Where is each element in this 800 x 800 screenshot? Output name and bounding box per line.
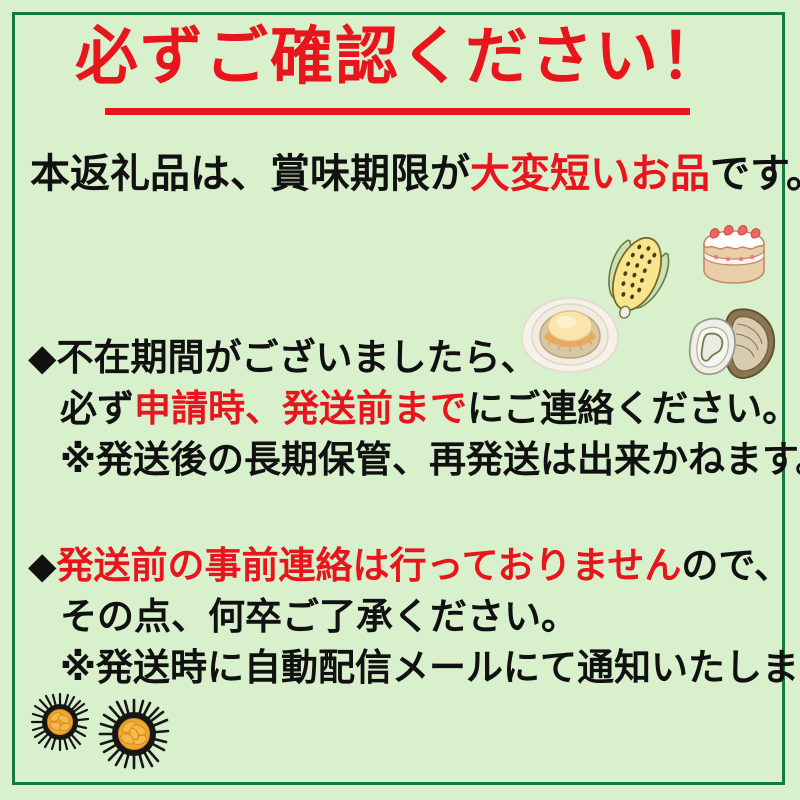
line-segment: ◆不在期間がございましたら、 <box>28 336 537 379</box>
line-segment-highlight: 発送前の事前連絡は行っておりません <box>56 544 681 587</box>
sea-urchin-large-illustration <box>98 698 170 770</box>
bullet-diamond-icon: ◆ <box>28 544 56 587</box>
lead-text-part-1: 本返礼品は、賞味期限が <box>30 151 470 197</box>
corn-illustration <box>596 224 678 324</box>
title-block: 必ずご確認ください！ <box>0 22 800 93</box>
paragraph-line: 必ず申請時、発送前までにご連絡ください。 <box>28 383 800 434</box>
paragraph-line: その点、何卒ご了承ください。 <box>28 591 800 642</box>
paragraph-line: ※発送後の長期保管、再発送は出来かねます。 <box>28 434 800 485</box>
lead-sentence: 本返礼品は、賞味期限が大変短いお品です。 <box>30 150 775 198</box>
paragraph-line: ※発送時に自動配信メールにて通知いたします。 <box>28 642 800 693</box>
paragraph-line: ◆発送前の事前連絡は行っておりませんので、 <box>28 540 800 591</box>
lead-text-part-2: です。 <box>710 151 800 197</box>
paragraph-no-prenotice: ◆発送前の事前連絡は行っておりませんので、 その点、何卒ご了承ください。 ※発送… <box>28 540 800 693</box>
paragraph-absence-period: ◆不在期間がございましたら、 必ず申請時、発送前までにご連絡ください。 ※発送後… <box>28 332 800 485</box>
line-segment: その点、何卒ご了承ください。 <box>60 595 578 638</box>
notice-card: 必ずご確認ください！ 本返礼品は、賞味期限が大変短いお品です。 ◆不在期間がござ… <box>0 0 800 800</box>
paragraph-line: ◆不在期間がございましたら、 <box>28 332 800 383</box>
line-segment: ※発送後の長期保管、再発送は出来かねます。 <box>60 438 800 481</box>
line-segment: ので、 <box>681 544 791 587</box>
title-underline <box>105 108 690 115</box>
line-segment: 必ず <box>60 387 134 430</box>
line-segment: にご連絡ください。 <box>467 387 799 430</box>
page-title: 必ずご確認ください！ <box>0 22 800 93</box>
sea-urchin-small-illustration <box>30 692 90 752</box>
strawberry-cake-illustration <box>694 220 774 288</box>
line-segment: ※発送時に自動配信メールにて通知いたします。 <box>60 646 800 689</box>
lead-text-highlight: 大変短いお品 <box>470 151 710 197</box>
line-segment-highlight: 申請時、発送前まで <box>134 387 467 430</box>
